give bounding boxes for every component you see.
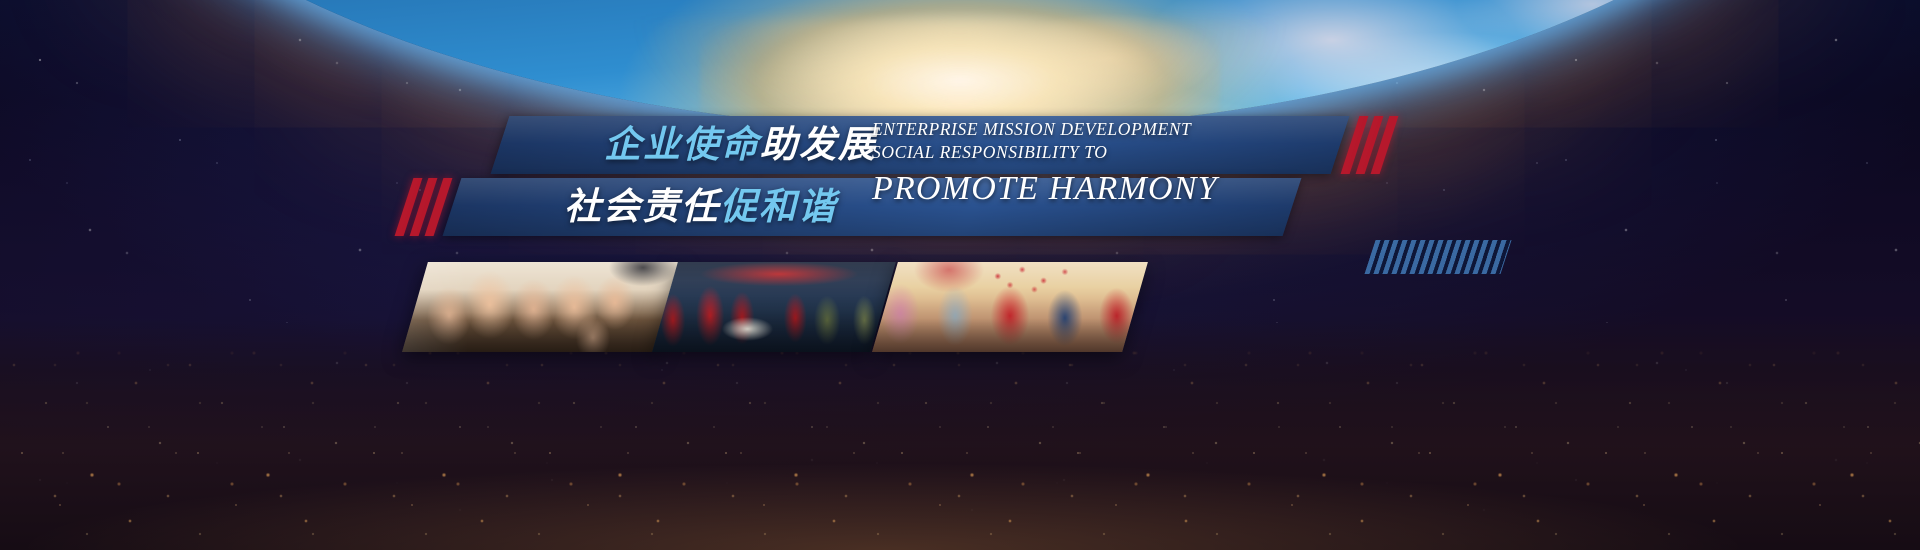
csr-hero-banner: 企业使命助发展 社会责任促和谐 ENTERPRISE MISSION DEVEL… (0, 0, 1920, 550)
photo-strip: 团队与家庭合影 筑梦之桥 · 爱满茶乡 传递爱心 (415, 262, 1155, 352)
headline-line-1-rest: 助发展 (760, 123, 877, 166)
headline-line-1-highlight: 企业使命 (604, 123, 760, 166)
english-line-3: PROMOTE HARMONY (872, 167, 1392, 211)
earth-globe (30, 0, 1890, 130)
photo-image-2 (652, 262, 896, 352)
photo-item: 传递爱心 (872, 262, 1148, 352)
english-tagline-group: ENTERPRISE MISSION DEVELOPMENT SOCIAL RE… (872, 118, 1392, 211)
headline-line-1: 企业使命助发展 (604, 116, 877, 174)
headline-line-2-rest: 社会责任 (564, 185, 720, 228)
headline-line-2: 社会责任促和谐 (564, 178, 837, 236)
photo-item: 团队与家庭合影 (402, 262, 684, 352)
sun-flare (700, 0, 1220, 130)
english-line-2: SOCIAL RESPONSIBILITY TO (872, 141, 1392, 164)
city-haze-glow (0, 400, 1920, 550)
hatch-stripe-block (1364, 240, 1511, 274)
photo-item: 筑梦之桥 · 爱满茶乡 (652, 262, 896, 352)
photo-image-1 (402, 262, 684, 352)
photo-image-3 (872, 262, 1148, 352)
headline-line-2-highlight: 促和谐 (720, 185, 837, 228)
english-line-1: ENTERPRISE MISSION DEVELOPMENT (872, 118, 1392, 141)
